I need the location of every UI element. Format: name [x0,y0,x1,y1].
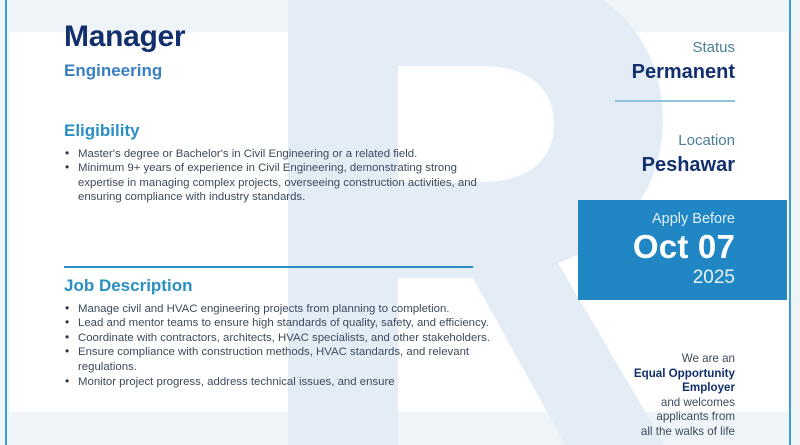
list-item: Lead and mentor teams to ensure high sta… [64,316,494,331]
eoe-line-4: all the walks of life [641,425,735,438]
equal-opportunity-statement: We are an Equal Opportunity Employer and… [555,352,735,440]
list-item: Minimum 9+ years of experience in Civil … [64,161,484,205]
list-item: Master's degree or Bachelor's in Civil E… [64,147,484,162]
eligibility-section: Eligibility Master's degree or Bachelor'… [64,122,484,205]
eoe-line-2: and welcomes [661,396,735,409]
job-description-section: Job Description Manage civil and HVAC en… [64,277,494,389]
apply-before-box: Apply Before Oct 07 2025 [578,200,787,300]
location-label: Location [678,133,735,148]
apply-before-label: Apply Before [652,212,735,227]
apply-deadline-year: 2025 [693,268,735,287]
list-item: Manage civil and HVAC engineering projec… [64,302,494,317]
section-divider [64,266,473,268]
page-title: Manager [64,22,185,52]
right-border-rule [789,0,791,445]
apply-deadline-date: Oct 07 [633,230,735,263]
eoe-line-1: We are an [682,352,735,365]
job-description-list: Manage civil and HVAC engineering projec… [64,302,494,390]
eligibility-heading: Eligibility [64,122,484,141]
sidebar-divider [615,100,735,102]
list-item: Ensure compliance with construction meth… [64,345,494,374]
list-item: Monitor project progress, address techni… [64,375,494,390]
page-subtitle: Engineering [64,62,162,79]
eoe-strong-2: Employer [682,381,735,394]
job-posting-poster: Manager Engineering Eligibility Master's… [0,0,800,445]
eoe-line-3: applicants from [656,410,735,423]
eligibility-list: Master's degree or Bachelor's in Civil E… [64,147,484,205]
list-item: Coordinate with contractors, architects,… [64,331,494,346]
status-value: Permanent [632,62,735,82]
status-label: Status [692,40,735,55]
location-value: Peshawar [642,155,735,175]
left-border-rule [5,0,7,445]
job-description-heading: Job Description [64,277,494,296]
eoe-strong-1: Equal Opportunity [634,367,735,380]
